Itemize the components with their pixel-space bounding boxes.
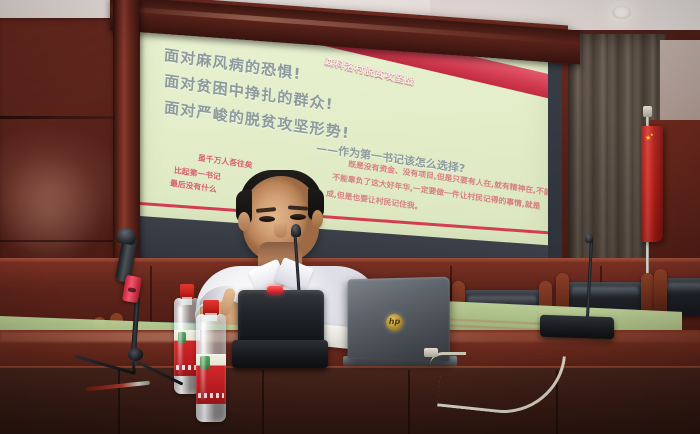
- conference-chair: [664, 278, 700, 316]
- speaker-eye-right: [290, 214, 306, 220]
- table-front-seam: [262, 370, 264, 434]
- conference-microphone-base: [232, 340, 328, 368]
- tripod-hub: [128, 348, 143, 361]
- ceiling-downlight-icon: [612, 6, 631, 19]
- microphone-capsule: [291, 224, 301, 237]
- chair-highlight: [571, 287, 640, 297]
- microphone-capsule-right: [585, 233, 593, 243]
- table-front-panel: [0, 368, 700, 434]
- speaker-nose: [274, 222, 287, 238]
- wood-panel-seam: [0, 116, 128, 119]
- conference-microphone-unit-right: [540, 315, 614, 340]
- speaker-ear-left: [238, 212, 250, 231]
- bottle-highlight: [201, 322, 205, 400]
- flag-small-star-icon: ★: [650, 133, 654, 137]
- bottle-neck: [205, 313, 217, 321]
- microphone-active-led-icon[interactable]: [267, 286, 283, 294]
- speaker-eye-left: [259, 216, 275, 222]
- conference-microphone-unit[interactable]: [238, 290, 324, 344]
- speaker-ear-right: [312, 210, 323, 228]
- conference-room-photo: 森科洛村脱贫攻坚战 面对麻风病的恐惧! 面对贫困中挣扎的群众! 面对严峻的脱贫攻…: [0, 0, 700, 434]
- slide-body-left-1: 虽千万人吾往矣: [198, 152, 253, 171]
- cable-connector: [424, 348, 438, 357]
- bottle-neck: [182, 297, 192, 305]
- chair-highlight: [666, 283, 700, 293]
- table-front-seam: [408, 370, 410, 434]
- flag-finial: [643, 106, 652, 117]
- water-bottle[interactable]: [196, 300, 226, 422]
- table-front-seam: [118, 370, 120, 434]
- wood-panel-sheen: [6, 150, 102, 270]
- bottle-highlight: [178, 306, 182, 376]
- hp-logo-text: hp: [386, 316, 403, 328]
- chinese-national-flag-icon: [641, 126, 663, 242]
- wood-panel-seam-lower: [0, 240, 128, 242]
